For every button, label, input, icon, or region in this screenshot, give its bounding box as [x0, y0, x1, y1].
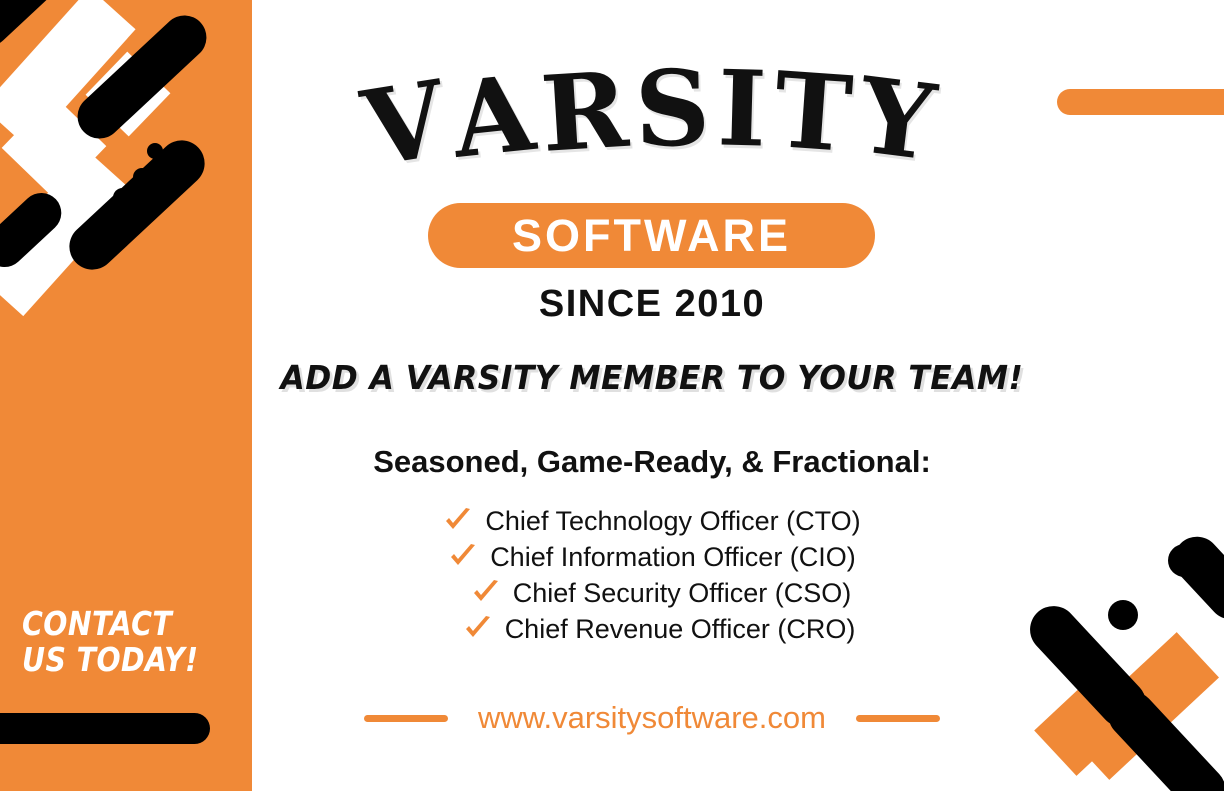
established-label: SINCE 2010 [252, 283, 1052, 326]
check-icon [463, 614, 493, 644]
check-icon [471, 578, 501, 608]
role-label: Chief Security Officer (CSO) [513, 578, 852, 609]
footer-url-row: www.varsitysoftware.com [252, 700, 1052, 736]
brand-wordmark: V A R S I T Y [252, 60, 1052, 190]
varsity-letter-4: I [717, 56, 768, 161]
varsity-letter-0: V [357, 66, 453, 181]
list-item: Chief Revenue Officer (CRO) [252, 611, 1052, 647]
varsity-letter-1: A [448, 61, 539, 173]
divider-dash-left [364, 715, 448, 722]
contact-cta: CONTACT US TODAY! [22, 606, 232, 678]
left-orange-panel: CONTACT US TODAY! [0, 0, 252, 791]
role-label: Chief Information Officer (CIO) [490, 542, 856, 573]
divider-dash-right [856, 715, 940, 722]
list-item: Chief Technology Officer (CTO) [252, 503, 1052, 539]
list-item: Chief Security Officer (CSO) [252, 575, 1052, 611]
role-list: Chief Technology Officer (CTO) Chief Inf… [252, 503, 1052, 647]
cta-line-1: CONTACT [22, 606, 203, 642]
role-label: Chief Technology Officer (CTO) [485, 506, 860, 537]
cta-line-2: US TODAY! [22, 642, 203, 678]
list-item: Chief Information Officer (CIO) [252, 539, 1052, 575]
subhead: Seasoned, Game-Ready, & Fractional: [252, 444, 1052, 480]
varsity-letter-3: S [634, 56, 711, 161]
website-url[interactable]: www.varsitysoftware.com [478, 700, 826, 736]
flyer-canvas: CONTACT US TODAY! V A R S I T Y [0, 0, 1224, 791]
decorative-black-dot-3 [113, 188, 132, 207]
varsity-letter-2: R [538, 58, 631, 167]
check-icon [443, 506, 473, 536]
varsity-letter-6: Y [854, 63, 940, 175]
headline-text: ADD A VARSITY MEMBER TO YOUR TEAM! [281, 358, 1024, 397]
decorative-black-bar-bottom [0, 713, 210, 744]
check-icon [448, 542, 478, 572]
headline: ADD A VARSITY MEMBER TO YOUR TEAM! [252, 358, 1052, 397]
software-badge-label: SOFTWARE [512, 210, 791, 262]
decorative-black-dot-1 [147, 143, 163, 159]
varsity-letters: V A R S I T Y [390, 60, 913, 190]
software-badge: SOFTWARE [428, 203, 875, 268]
role-label: Chief Revenue Officer (CRO) [505, 614, 856, 645]
varsity-letter-5: T [771, 58, 855, 167]
main-content: V A R S I T Y SOFTWARE SINCE 2010 ADD A … [252, 0, 1224, 791]
decorative-black-dot-2 [133, 168, 151, 186]
